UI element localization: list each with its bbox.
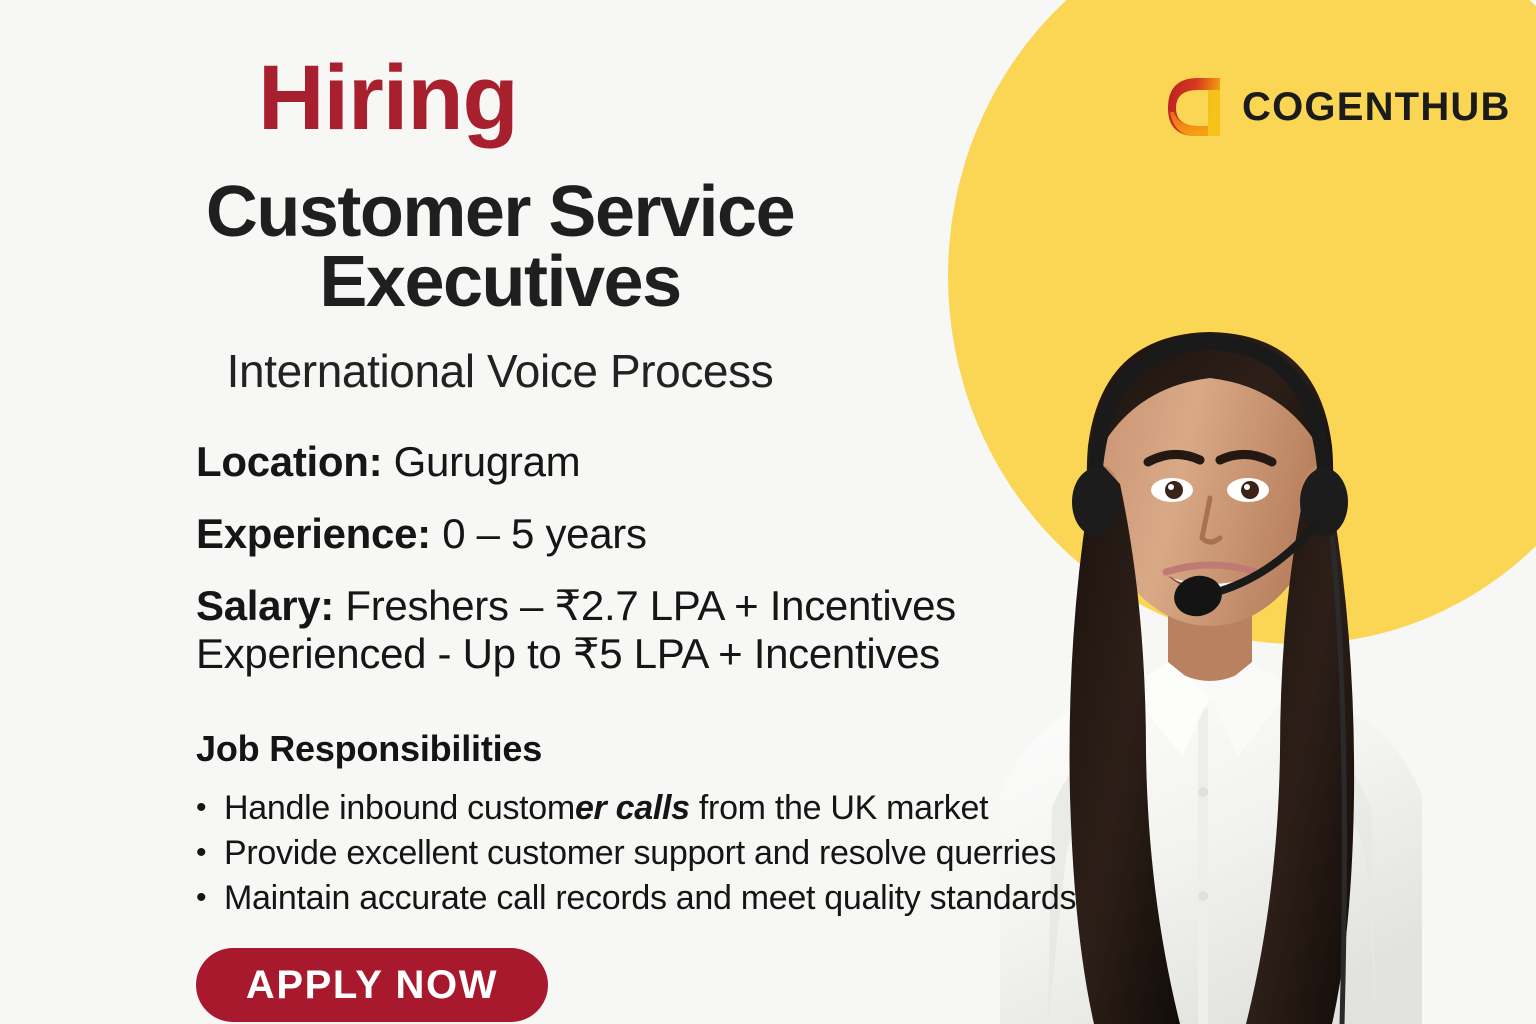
fact-experience-label: Experience:: [196, 510, 431, 557]
fact-salary: Salary: Freshers – ₹2.7 LPA + Incentives: [196, 584, 1056, 628]
list-item: • Maintain accurate call records and mee…: [196, 876, 1286, 921]
bullet-dot-icon: •: [196, 831, 224, 875]
brand-logo: COGENTHUB: [1168, 76, 1511, 138]
list-item: • Provide excellent customer support and…: [196, 831, 1286, 876]
hiring-eyebrow: Hiring: [258, 52, 518, 144]
responsibilities-title: Job Responsibilities: [196, 728, 542, 770]
fact-location: Location: Gurugram: [196, 440, 1056, 484]
page-title: Customer Service Executives: [110, 178, 890, 318]
bullet-dot-icon: •: [196, 786, 224, 830]
fact-experience: Experience: 0 – 5 years: [196, 512, 1056, 556]
list-item-text-pre: Handle inbound custom: [224, 789, 575, 827]
responsibilities-list: • Handle inbound customer calls from the…: [196, 786, 1286, 921]
fact-salary-label: Salary:: [196, 582, 334, 629]
job-facts-list: Location: Gurugram Experience: 0 – 5 yea…: [196, 440, 1056, 700]
fact-location-value: Gurugram: [382, 438, 580, 485]
list-item: • Handle inbound customer calls from the…: [196, 786, 1286, 831]
apply-now-button[interactable]: APPLY NOW: [196, 948, 548, 1022]
process-subtitle: International Voice Process: [110, 346, 890, 397]
list-item-text-post: from the UK market: [690, 789, 989, 827]
bullet-dot-icon: •: [196, 876, 224, 920]
fact-salary-value: Freshers – ₹2.7 LPA + Incentives: [334, 582, 956, 629]
list-item-text: Provide excellent customer support and r…: [224, 831, 1056, 876]
fact-location-label: Location:: [196, 438, 382, 485]
list-item-text-emphasis: er calls: [575, 789, 690, 827]
list-item-text: Maintain accurate call records and meet …: [224, 876, 1076, 921]
cogenthub-mark-icon: [1168, 76, 1224, 138]
list-item-text: Handle inbound customer calls from the U…: [224, 786, 988, 831]
fact-experience-value: 0 – 5 years: [431, 510, 647, 557]
job-ad-poster: COGENTHUB Hiring Customer Service Execut…: [0, 0, 1536, 1024]
text-column: Hiring Customer Service Executives Inter…: [0, 0, 1060, 1024]
role-line-1: Customer Service: [110, 178, 890, 248]
role-line-2: Executives: [110, 248, 890, 318]
brand-name: COGENTHUB: [1242, 87, 1511, 127]
fact-salary-experienced: Experienced - Up to ₹5 LPA + Incentives: [196, 632, 1056, 676]
